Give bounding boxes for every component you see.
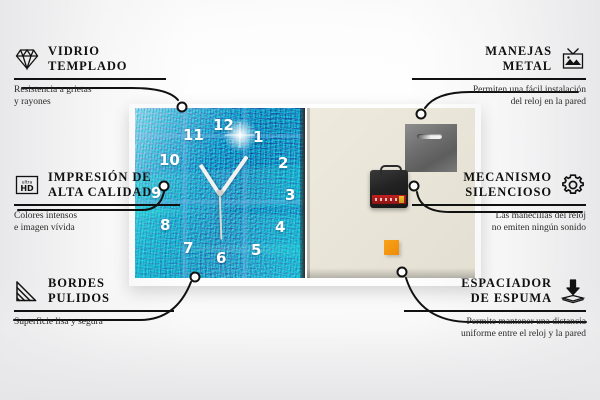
clock-numeral-4: 4 — [275, 220, 285, 235]
callout-title: BORDES PULIDOS — [48, 276, 110, 306]
callout-subtitle: Las manecillas del reloj no emiten ningú… — [408, 210, 586, 235]
callout-rule — [14, 78, 166, 80]
clock-numeral-11: 11 — [183, 128, 204, 143]
callout-rule — [412, 204, 586, 206]
callout-title: MANEJAS METAL — [485, 44, 552, 74]
foam-spacer — [384, 240, 399, 255]
clock-numeral-12: 12 — [213, 118, 234, 133]
clock-center-pin — [217, 190, 223, 196]
clock-numeral-6: 6 — [216, 251, 226, 266]
callout-header: VIDRIO TEMPLADO — [14, 44, 174, 74]
callout-manejas-metal: MANEJAS METAL Permiten una fácil instala… — [408, 44, 586, 109]
battery-label-stripes — [375, 198, 397, 201]
diamond-icon — [14, 46, 40, 72]
aa-battery — [372, 195, 406, 204]
callout-rule — [14, 204, 180, 206]
gear-icon — [560, 172, 586, 198]
callout-impresion-alta-calidad: ultra HD IMPRESIÓN DE ALTA CALIDAD Color… — [14, 170, 184, 235]
callout-vidrio-templado: VIDRIO TEMPLADO Resistencia a grietas y … — [14, 44, 174, 109]
callout-espaciador-de-espuma: ESPACIADOR DE ESPUMA Permite mantener un… — [400, 276, 586, 341]
clock-numeral-3: 3 — [285, 188, 295, 203]
callout-header: ESPACIADOR DE ESPUMA — [400, 276, 586, 306]
callout-subtitle: Superficie lisa y segura — [14, 316, 182, 329]
callout-bordes-pulidos: BORDES PULIDOS Superficie lisa y segura — [14, 276, 182, 328]
callout-rule — [14, 310, 174, 312]
callout-title: VIDRIO TEMPLADO — [48, 44, 127, 74]
clock-numeral-5: 5 — [251, 243, 261, 258]
metal-hanger-plate — [405, 124, 457, 172]
clock-back-edge — [307, 108, 310, 278]
callout-header: MANEJAS METAL — [408, 44, 586, 74]
arrow-down-onto-pad-icon — [560, 278, 586, 304]
mechanism-hook — [380, 165, 402, 175]
callout-header: MECANISMO SILENCIOSO — [408, 170, 586, 200]
clock-numeral-7: 7 — [183, 241, 193, 256]
hanger-keyhole-slot — [417, 134, 442, 139]
svg-text:HD: HD — [20, 184, 34, 193]
callout-title: ESPACIADOR DE ESPUMA — [461, 276, 552, 306]
callout-subtitle: Colores intensos e imagen vívida — [14, 210, 184, 235]
callout-rule — [404, 310, 586, 312]
clock-numeral-1: 1 — [253, 130, 263, 145]
silent-quartz-mechanism — [370, 170, 408, 208]
callout-subtitle: Permiten una fácil instalación del reloj… — [408, 84, 586, 109]
polished-edge-icon — [14, 278, 40, 304]
clock-numeral-2: 2 — [278, 156, 288, 171]
ultra-hd-icon: ultra HD — [14, 172, 40, 198]
callout-mecanismo-silencioso: MECANISMO SILENCIOSO Las manecillas del … — [408, 170, 586, 235]
picture-frame-hanger-icon — [560, 46, 586, 72]
infographic-canvas: 12 1 2 3 4 5 6 7 8 9 10 11 — [0, 0, 600, 400]
callout-header: ultra HD IMPRESIÓN DE ALTA CALIDAD — [14, 170, 184, 200]
clock-side-edge — [300, 108, 305, 278]
callout-rule — [412, 78, 586, 80]
callout-subtitle: Permite mantener una distancia uniforme … — [400, 316, 586, 341]
clock-numeral-10: 10 — [159, 153, 180, 168]
callout-header: BORDES PULIDOS — [14, 276, 182, 306]
callout-title: IMPRESIÓN DE ALTA CALIDAD — [48, 170, 152, 200]
callout-title: MECANISMO SILENCIOSO — [463, 170, 552, 200]
print-grid-line — [135, 134, 305, 138]
callout-subtitle: Resistencia a grietas y rayones — [14, 84, 174, 109]
